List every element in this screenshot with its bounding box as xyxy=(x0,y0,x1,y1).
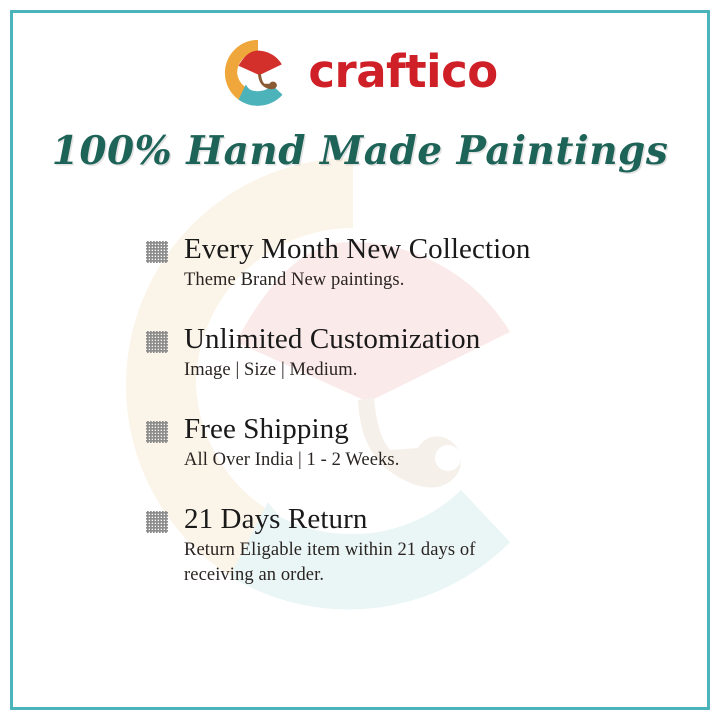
logo-teal-arc-2 xyxy=(239,85,283,106)
list-item: 21 Days Return Return Eligable item with… xyxy=(146,502,646,588)
feature-subtitle: Image | Size | Medium. xyxy=(184,358,646,383)
feature-title: Unlimited Customization xyxy=(184,322,646,356)
list-item: Free Shipping All Over India | 1 - 2 Wee… xyxy=(146,412,646,473)
promotional-banner: craftico 100% Hand Made Paintings xyxy=(0,0,720,720)
list-item: Unlimited Customization Image | Size | M… xyxy=(146,322,646,383)
feature-title: Free Shipping xyxy=(184,412,646,446)
feature-title: Every Month New Collection xyxy=(184,232,646,266)
feature-subtitle: Return Eligable item within 21 days of r… xyxy=(184,538,544,588)
craftico-c-paintbrush-logo-icon xyxy=(222,37,294,109)
woven-grid-square-icon xyxy=(146,331,168,353)
woven-grid-square-icon xyxy=(146,511,168,533)
headline-text: 100% Hand Made Paintings xyxy=(0,128,720,174)
logo-brush-handle xyxy=(258,74,277,89)
list-item: Every Month New Collection Theme Brand N… xyxy=(146,232,646,293)
feature-subtitle: All Over India | 1 - 2 Weeks. xyxy=(184,448,646,473)
feature-title: 21 Days Return xyxy=(184,502,646,536)
brand-logo-lockup: craftico xyxy=(0,34,720,112)
brand-wordmark: craftico xyxy=(308,49,497,98)
feature-subtitle: Theme Brand New paintings. xyxy=(184,268,646,293)
woven-grid-square-icon xyxy=(146,421,168,443)
feature-list: Every Month New Collection Theme Brand N… xyxy=(146,232,646,588)
woven-grid-square-icon xyxy=(146,241,168,263)
